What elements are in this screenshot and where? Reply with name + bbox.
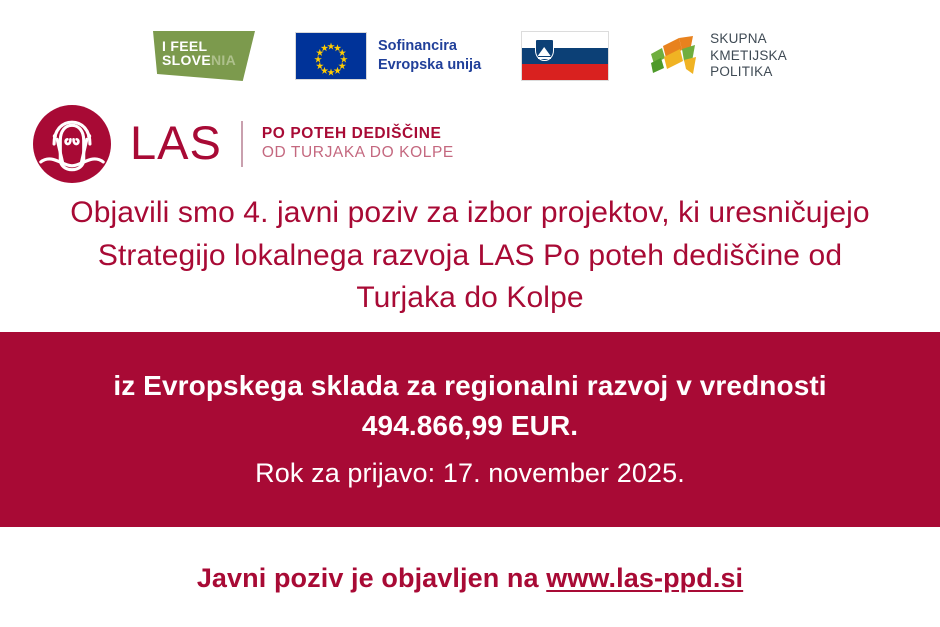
skupna-kmetijska-politika-mark-icon bbox=[649, 34, 701, 78]
poster-canvas: I FEEL SLOVENIA bbox=[0, 0, 940, 627]
funding-amount: 494.866,99 EUR. bbox=[362, 410, 578, 441]
cap-ribbon-shapes bbox=[649, 34, 701, 78]
las-subtitle-line2: OD TURJAKA DO KOLPE bbox=[262, 144, 454, 163]
las-subtitle-line1: PO POTEH DEDIŠČINE bbox=[262, 125, 454, 144]
eu-cofunding-text: Sofinancira Evropska unija bbox=[378, 37, 481, 74]
funding-banner-main-text: iz Evropskega sklada za regionalni razvo… bbox=[113, 366, 826, 446]
i-feel-slovenia-line2-bright: SLOVE bbox=[162, 52, 211, 68]
cap-line1: SKUPNA bbox=[710, 31, 787, 48]
slovenia-flag-red-band bbox=[522, 64, 608, 80]
slovenia-flag-icon bbox=[521, 31, 609, 81]
las-logo-divider bbox=[241, 121, 243, 167]
las-ppd-website-link[interactable]: www.las-ppd.si bbox=[546, 563, 743, 593]
skupna-kmetijska-politika-logo: SKUPNA KMETIJSKA POLITIKA bbox=[649, 31, 787, 81]
slovenia-coat-of-arms-icon bbox=[535, 39, 554, 61]
i-feel-slovenia-line2-dim: NIA bbox=[211, 52, 236, 68]
eu-cofunding-logo: Sofinancira Evropska unija bbox=[295, 32, 481, 80]
headline-text: Objavili smo 4. javni poziv za izbor pro… bbox=[50, 192, 890, 320]
footer-call-to-action: Javni poziv je objavljen na www.las-ppd.… bbox=[0, 563, 940, 594]
cap-line3: POLITIKA bbox=[710, 64, 787, 81]
funding-banner: iz Evropskega sklada za regionalni razvo… bbox=[0, 332, 940, 527]
cap-line2: KMETIJSKA bbox=[710, 48, 787, 65]
las-wordmark: LAS bbox=[130, 119, 222, 169]
skupna-kmetijska-politika-text: SKUPNA KMETIJSKA POLITIKA bbox=[710, 31, 787, 81]
eu-stars-circle bbox=[296, 33, 366, 79]
slovenia-crest-waves bbox=[538, 57, 551, 59]
european-union-flag-icon bbox=[295, 32, 367, 80]
eu-cofunding-line2: Evropska unija bbox=[378, 56, 481, 75]
i-feel-slovenia-logo-icon: I FEEL SLOVENIA bbox=[153, 31, 255, 81]
application-deadline: Rok za prijavo: 17. november 2025. bbox=[255, 455, 685, 493]
eu-cofunding-line1: Sofinancira bbox=[378, 37, 481, 56]
i-feel-slovenia-line2: SLOVENIA bbox=[162, 53, 236, 67]
las-subtitle: PO POTEH DEDIŠČINE OD TURJAKA DO KOLPE bbox=[262, 125, 454, 162]
funding-source-line: iz Evropskega sklada za regionalni razvo… bbox=[113, 370, 826, 401]
i-feel-slovenia-line1: I FEEL bbox=[162, 39, 236, 53]
funding-logo-strip: I FEEL SLOVENIA bbox=[0, 20, 940, 92]
i-feel-slovenia-wordmark: I FEEL SLOVENIA bbox=[162, 39, 236, 68]
footer-prefix-text: Javni poziv je objavljen na bbox=[197, 563, 546, 593]
las-circular-emblem-icon bbox=[33, 105, 111, 183]
las-brand-logo: LAS PO POTEH DEDIŠČINE OD TURJAKA DO KOL… bbox=[33, 105, 454, 183]
